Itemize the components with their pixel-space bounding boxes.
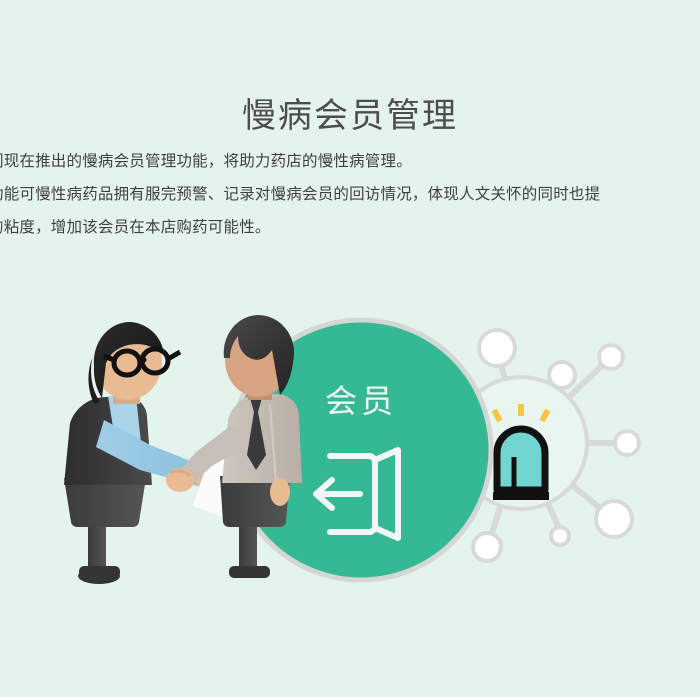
body-line: 的粘度，增加该会员在本店购药可能性。: [0, 211, 700, 244]
page-root: 慢病会员管理 们现在推出的慢病会员管理功能，将助力药店的慢性病管理。 功能可慢性…: [0, 0, 700, 697]
body-line: 们现在推出的慢病会员管理功能，将助力药店的慢性病管理。: [0, 145, 700, 178]
page-title: 慢病会员管理: [0, 93, 700, 139]
body-line: 功能可慢性病药品拥有服完预警、记录对慢病会员的回访情况，体现人文关怀的同时也提: [0, 178, 700, 211]
illustration: 会员: [0, 300, 700, 600]
body-paragraph: 们现在推出的慢病会员管理功能，将助力药店的慢性病管理。 功能可慢性病药品拥有服完…: [0, 145, 700, 244]
member-circle-label: 会员: [325, 383, 397, 419]
